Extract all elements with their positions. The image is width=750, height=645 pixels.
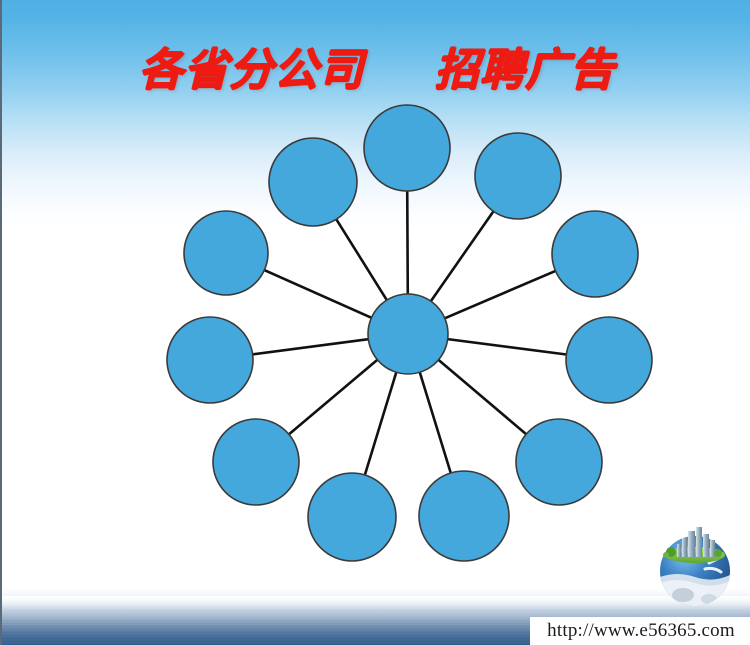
slide-title: 各省分公司 招聘广告: [2, 34, 750, 98]
spoke-line-6: [419, 371, 451, 474]
spoke-line-11: [336, 218, 388, 300]
spoke-line-7: [365, 371, 397, 476]
branch-node-11[interactable]: [269, 138, 357, 226]
spoke-line-9: [252, 339, 370, 354]
title-left-text: 各省分公司: [139, 34, 364, 98]
spoke-line-1: [407, 190, 408, 295]
spoke-line-10: [263, 270, 372, 318]
branch-node-1[interactable]: [364, 105, 450, 191]
branch-node-8[interactable]: [213, 419, 299, 505]
spoke-line-2: [430, 210, 494, 302]
spoke-line-3: [444, 271, 557, 319]
branch-node-7[interactable]: [308, 473, 396, 561]
spoke-line-4: [447, 339, 568, 355]
branch-node-3[interactable]: [552, 211, 638, 297]
branch-node-10[interactable]: [184, 211, 268, 295]
center-hub-node[interactable]: [368, 294, 448, 374]
spoke-line-8: [288, 359, 378, 435]
branch-node-2[interactable]: [475, 133, 561, 219]
globe-city-logo: [647, 525, 743, 609]
branch-node-9[interactable]: [167, 317, 253, 403]
branch-node-5[interactable]: [516, 419, 602, 505]
slide-canvas: 各省分公司 招聘广告: [0, 0, 750, 645]
watermark-url-box: http://www.e56365.com: [530, 617, 750, 645]
spoke-line-5: [438, 359, 527, 435]
branch-node-4[interactable]: [566, 317, 652, 403]
title-right-text: 招聘广告: [435, 34, 615, 98]
center-node-group: [368, 294, 448, 374]
watermark-url-text: http://www.e56365.com: [547, 620, 735, 642]
branch-node-6[interactable]: [419, 471, 509, 561]
